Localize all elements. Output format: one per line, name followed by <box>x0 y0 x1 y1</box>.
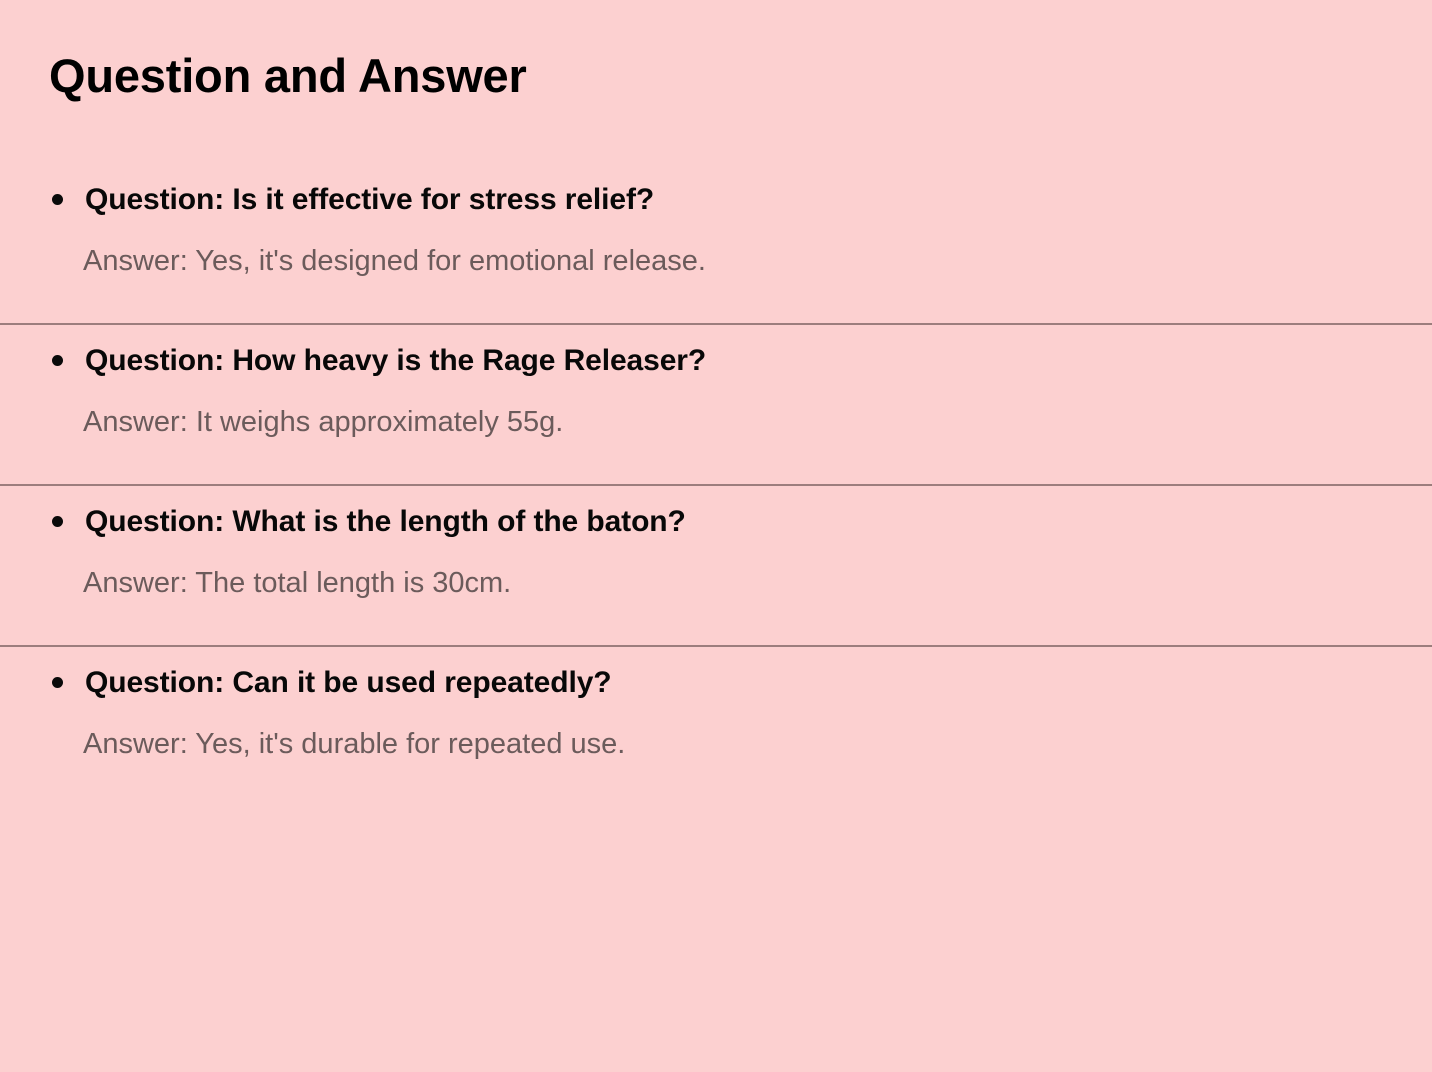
bullet-dot-icon <box>52 677 63 688</box>
question-text: Question: Is it effective for stress rel… <box>85 181 1385 219</box>
question-text: Question: Can it be used repeatedly? <box>85 664 1385 702</box>
qa-list: Question: Is it effective for stress rel… <box>0 164 1432 806</box>
question-row: Question: Is it effective for stress rel… <box>0 164 1385 219</box>
answer-text: Answer: Yes, it's durable for repeated u… <box>83 726 1385 762</box>
qa-item: Question: How heavy is the Rage Releaser… <box>0 325 1432 486</box>
question-row: Question: Can it be used repeatedly? <box>0 647 1385 702</box>
answer-text: Answer: Yes, it's designed for emotional… <box>83 243 1385 279</box>
qa-item: Question: What is the length of the bato… <box>0 486 1432 647</box>
qa-item: Question: Can it be used repeatedly? Ans… <box>0 647 1432 806</box>
answer-row: Answer: Yes, it's durable for repeated u… <box>0 702 1385 806</box>
bullet-dot-icon <box>52 516 63 527</box>
question-text: Question: How heavy is the Rage Releaser… <box>85 342 1385 380</box>
bullet-dot-icon <box>52 194 63 205</box>
answer-row: Answer: The total length is 30cm. <box>0 541 1385 645</box>
qa-item: Question: Is it effective for stress rel… <box>0 164 1432 325</box>
answer-text: Answer: It weighs approximately 55g. <box>83 404 1385 440</box>
bullet-dot-icon <box>52 355 63 366</box>
question-row: Question: What is the length of the bato… <box>0 486 1385 541</box>
answer-row: Answer: It weighs approximately 55g. <box>0 380 1385 484</box>
qa-page: Question and Answer Question: Is it effe… <box>0 0 1432 1072</box>
question-row: Question: How heavy is the Rage Releaser… <box>0 325 1385 380</box>
page-title: Question and Answer <box>49 47 527 105</box>
answer-text: Answer: The total length is 30cm. <box>83 565 1385 601</box>
answer-row: Answer: Yes, it's designed for emotional… <box>0 219 1385 323</box>
question-text: Question: What is the length of the bato… <box>85 503 1385 541</box>
